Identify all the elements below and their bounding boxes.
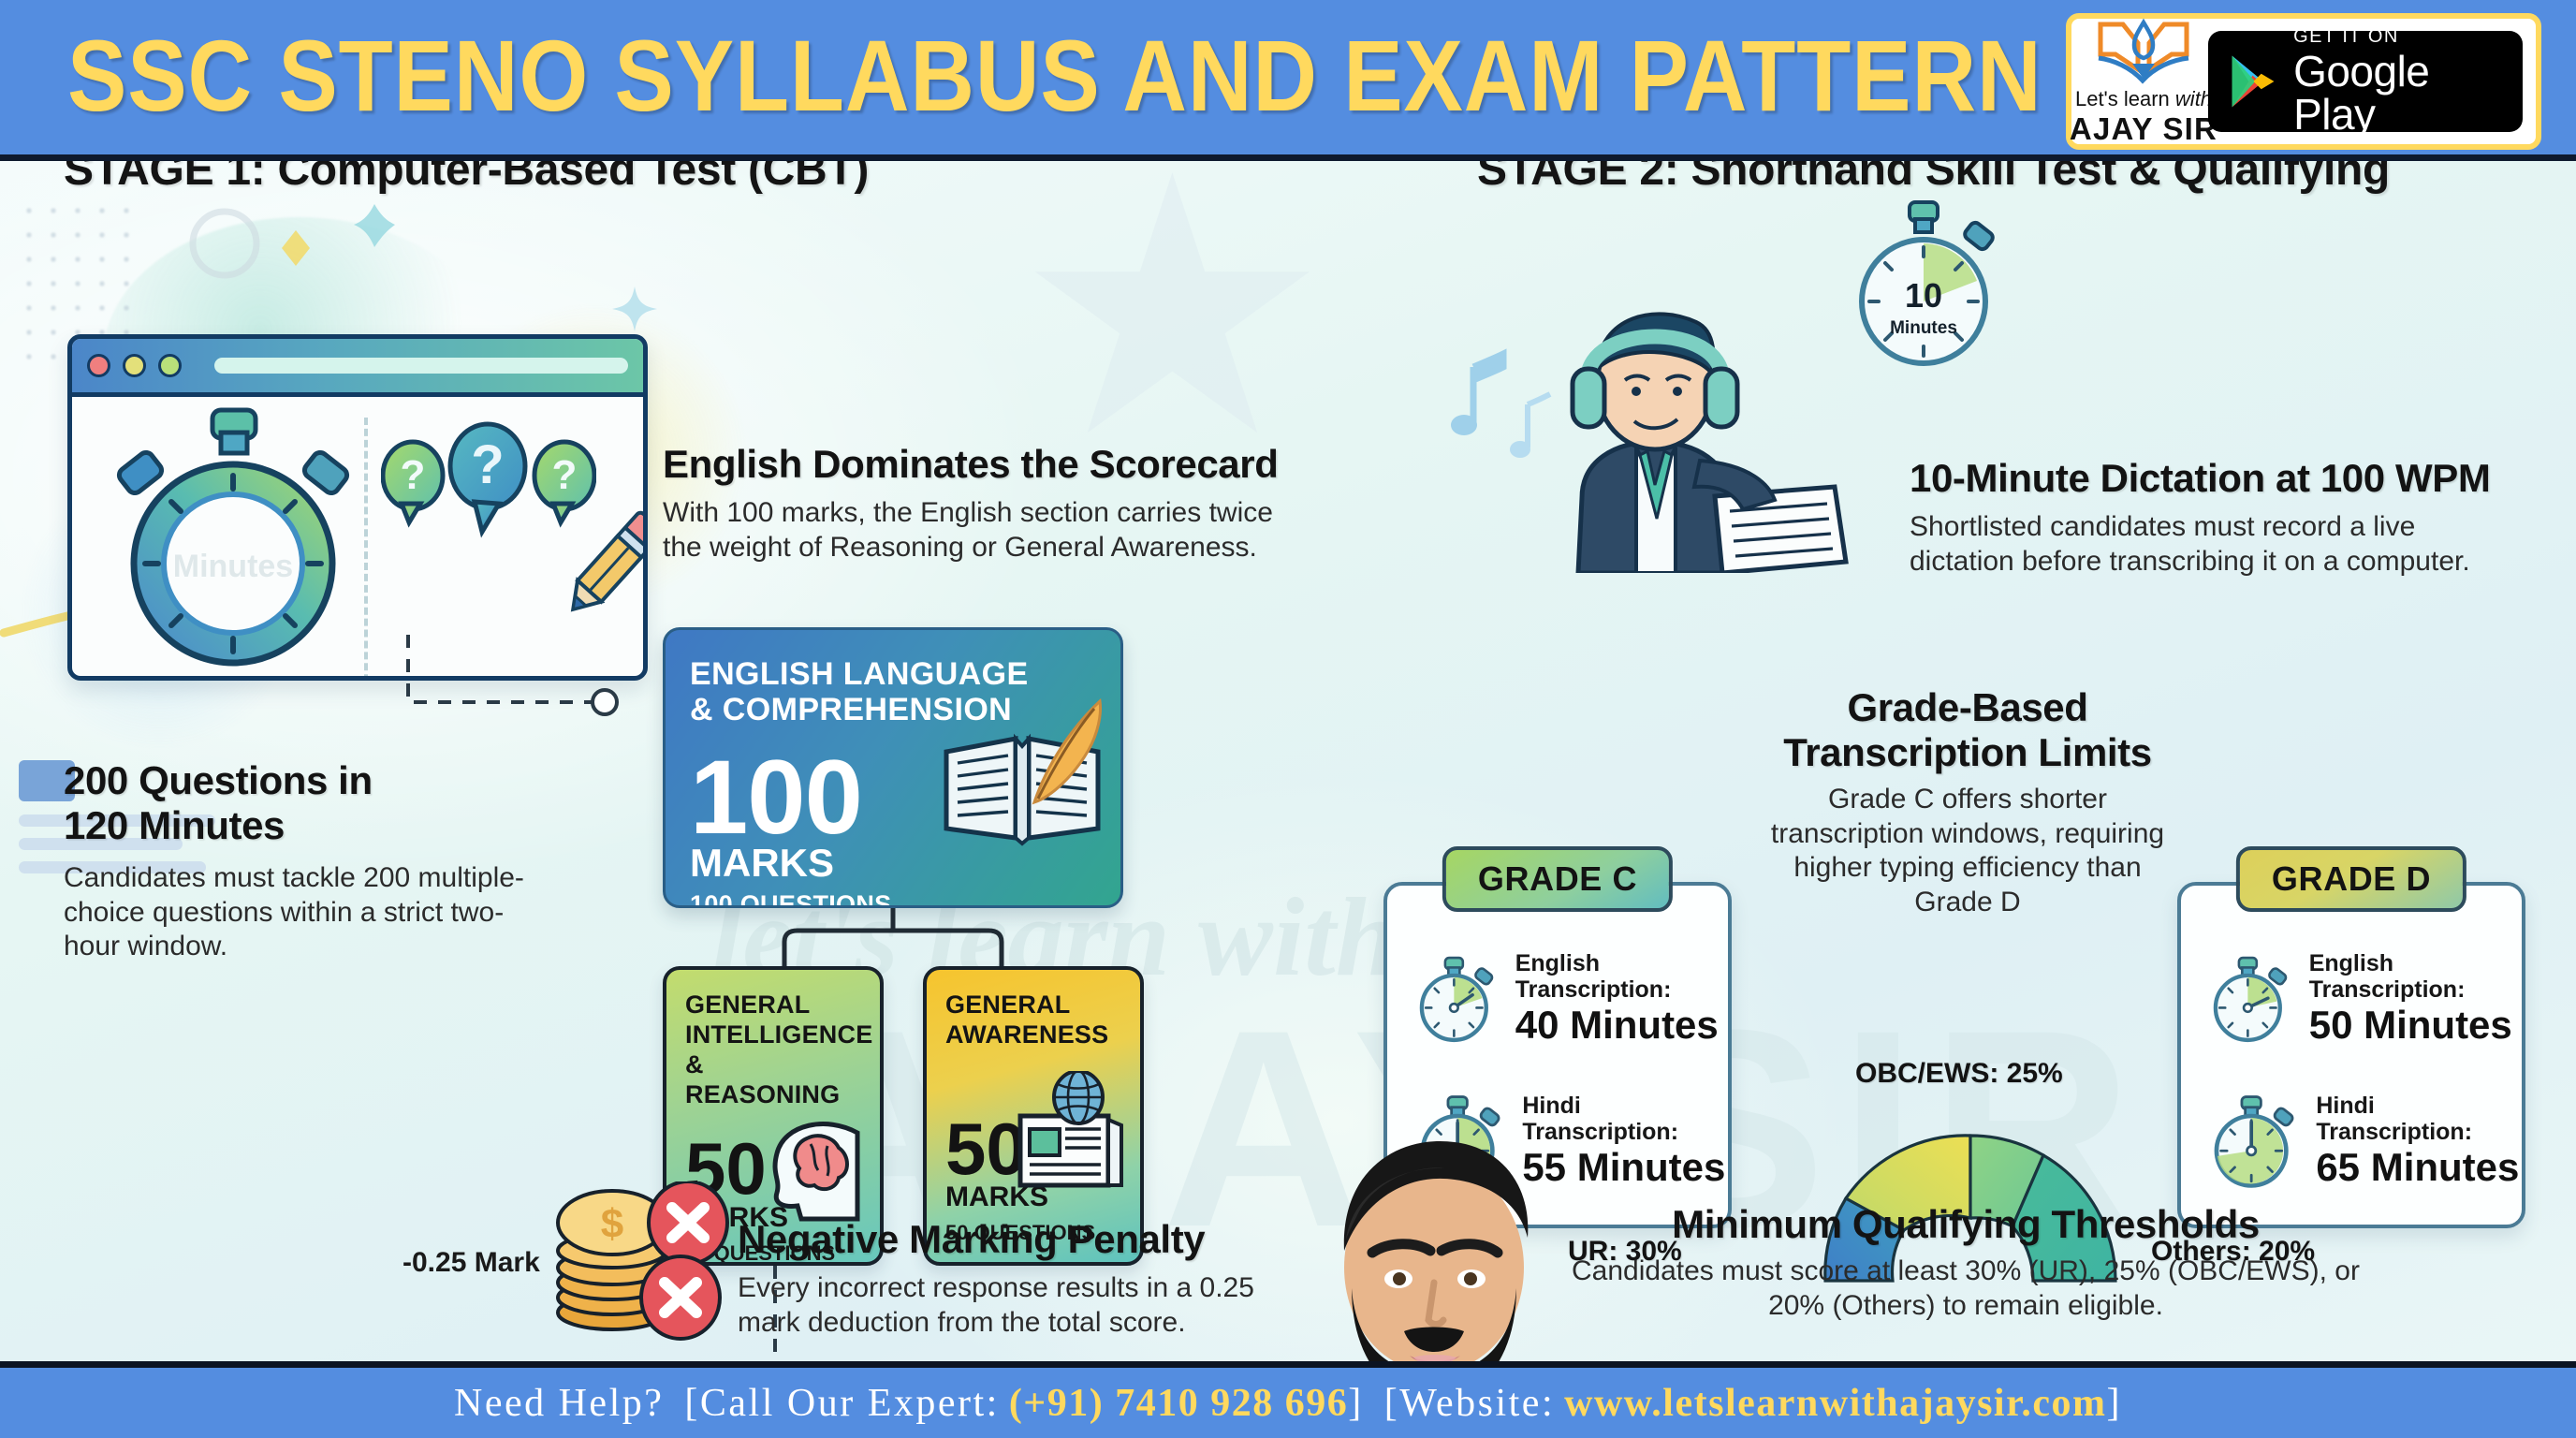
questions-count-title-line2: 120 Minutes (64, 803, 550, 848)
section-card-reasoning-title-line2: INTELLIGENCE (685, 1020, 861, 1050)
page-title: SSC STENO SYLLABUS AND EXAM PATTERN (67, 17, 2042, 134)
footer-need-help: Need Help? (454, 1381, 664, 1426)
window-close-dot (87, 354, 110, 377)
deco-sparkle-icon (608, 283, 661, 335)
thresholds-block: Minimum Qualifying Thresholds Candidates… (1554, 1202, 2378, 1323)
negative-marking-title: Negative Marking Penalty (738, 1217, 1318, 1262)
stage-2-heading: STAGE 2: Shorthand Skill Test & Qualifyi… (1477, 161, 2390, 196)
window-maximize-dot (158, 354, 182, 377)
svg-text:?: ? (471, 434, 504, 495)
section-card-english-title-line1: ENGLISH LANGUAGE (690, 656, 1096, 692)
transcription-limits-title-line2: Transcription Limits (1760, 730, 2175, 775)
grade-d-english-row: English Transcription: 50 Minutes (2203, 947, 2522, 1050)
stage-1-heading: STAGE 1: Computer-Based Test (CBT) (64, 161, 869, 196)
book-quill-icon (933, 697, 1111, 857)
content-area: ★ let's learn with AJAY SIR STAGE (0, 161, 2576, 1361)
svg-text:?: ? (401, 452, 426, 498)
google-play-button[interactable]: GET IT ON Google Play (2208, 31, 2523, 132)
header-bar: SSC STENO SYLLABUS AND EXAM PATTERN Let'… (0, 0, 2576, 161)
footer-website-label: [Website: (1384, 1381, 1555, 1426)
section-card-reasoning-title-line1: GENERAL (685, 990, 861, 1020)
thresholds-title: Minimum Qualifying Thresholds (1554, 1202, 2378, 1247)
stopwatch-minutes-watermark: Minutes (173, 549, 293, 584)
footer-website[interactable]: www.letslearnwithajaysir.com (1564, 1381, 2106, 1426)
coins-penalty-icon: $ (552, 1181, 739, 1341)
grade-d-hindi-value: 65 Minutes (2316, 1147, 2522, 1188)
transcription-limits-title-line1: Grade-Based (1760, 685, 2175, 730)
brand-name: AJAY SIR (2070, 111, 2217, 147)
grade-c-english-value: 40 Minutes (1515, 1005, 1728, 1046)
deco-ring-icon (168, 187, 281, 300)
dictation-block: 10-Minute Dictation at 100 WPM Shortlist… (1910, 456, 2527, 579)
negative-marking-block: Negative Marking Penalty Every incorrect… (738, 1217, 1318, 1340)
grade-card-d: GRADE D (2177, 882, 2525, 1228)
dictation-timer-unit: Minutes (1890, 318, 1957, 338)
open-book-torch-logo-icon (2091, 17, 2196, 86)
browser-title-bar (72, 339, 643, 397)
dictation-person-illustration (1442, 264, 1853, 573)
grade-d-pill: GRADE D (2236, 846, 2466, 912)
questions-count-title-line1: 200 Questions in (64, 758, 550, 803)
brand-tagline-italic: with (2175, 87, 2212, 110)
section-card-english: ENGLISH LANGUAGE & COMPREHENSION 100 MAR… (663, 627, 1123, 908)
dictation-title: 10-Minute Dictation at 100 WPM (1910, 456, 2527, 501)
window-minimize-dot (123, 354, 146, 377)
store-badge-small-text: GET IT ON (2293, 27, 2504, 46)
stopwatch-icon: Minutes (93, 403, 373, 674)
transcription-limits-body: Grade C offers shorter transcription win… (1760, 783, 2175, 919)
ajay-sir-logo: Let's learn with AJAY SIR (2088, 17, 2199, 147)
stopwatch-small-icon (2203, 947, 2292, 1050)
footer-call-close: ] (1348, 1381, 1364, 1426)
grade-c-english-row: English Transcription: 40 Minutes (1410, 947, 1728, 1050)
grade-d-english-label: English Transcription: (2309, 951, 2522, 1003)
english-dominates-title: English Dominates the Scorecard (663, 442, 1281, 487)
questions-count-block: 200 Questions in 120 Minutes Candidates … (64, 758, 550, 964)
grade-c-english-label: English Transcription: (1515, 951, 1728, 1003)
deco-diamond-teal-icon (346, 197, 402, 253)
brand-tagline: Let's learn with (2075, 87, 2212, 111)
globe-newspaper-icon (1007, 1071, 1138, 1202)
questions-count-body: Candidates must tackle 200 multiple-choi… (64, 861, 550, 964)
section-card-awareness-title-line1: GENERAL (945, 990, 1121, 1020)
stopwatch-small-icon (1410, 947, 1499, 1050)
store-badge-large-text: Google Play (2293, 50, 2504, 136)
google-play-triangle-icon (2227, 51, 2278, 112)
thresholds-body: Candidates must score at least 30% (UR),… (1554, 1255, 2378, 1323)
dictation-body: Shortlisted candidates must record a liv… (1910, 510, 2527, 579)
svg-text:$: $ (601, 1201, 623, 1247)
negative-marking-body: Every incorrect response results in a 0.… (738, 1271, 1318, 1340)
svg-text:?: ? (552, 452, 578, 498)
browser-address-bar (214, 358, 628, 374)
section-card-awareness-title-line2: AWARENESS (945, 1020, 1121, 1050)
grade-c-pill: GRADE C (1442, 846, 1673, 912)
grade-d-hindi-row: Hindi Transcription: 65 Minutes (2203, 1090, 2522, 1193)
footer-website-close: ] (2107, 1381, 2123, 1426)
dictation-timer-icon: 10 Minutes (1835, 197, 2012, 374)
footer-phone[interactable]: (+91) 7410 928 696 (1009, 1381, 1348, 1426)
stopwatch-small-icon (2203, 1090, 2299, 1193)
music-note-icon (1451, 354, 1550, 458)
deco-diamond-yellow-icon (274, 227, 317, 270)
english-dominates-block: English Dominates the Scorecard With 100… (663, 442, 1281, 565)
footer-bar: Need Help? [Call Our Expert: (+91) 7410 … (0, 1361, 2576, 1438)
brand-and-store-badge[interactable]: Let's learn with AJAY SIR GET IT ON Goog… (2066, 13, 2541, 150)
negative-marking-chip-label: -0.25 Mark (402, 1247, 540, 1279)
grade-d-english-value: 50 Minutes (2309, 1005, 2522, 1046)
section-card-english-questions: 100 QUESTIONS (690, 890, 1096, 908)
negative-marking-chip: -0.25 Mark (402, 1247, 540, 1278)
english-dominates-body: With 100 marks, the English section carr… (663, 496, 1281, 565)
grade-d-hindi-label: Hindi Transcription: (2316, 1093, 2522, 1145)
infographic-canvas: SSC STENO SYLLABUS AND EXAM PATTERN Let'… (0, 0, 2576, 1438)
dictation-timer-value: 10 (1905, 276, 1942, 315)
brain-head-icon (760, 1118, 872, 1223)
footer-call-label: [Call Our Expert: (684, 1381, 999, 1426)
pencil-icon (555, 500, 648, 631)
transcription-limits-block: Grade-Based Transcription Limits Grade C… (1760, 685, 2175, 919)
section-card-reasoning-title-line3: & REASONING (685, 1050, 861, 1110)
gauge-label-obc: OBC/EWS: 25% (1855, 1058, 2063, 1090)
brand-tagline-prefix: Let's learn (2075, 87, 2170, 110)
connector-browser-node (402, 629, 646, 741)
